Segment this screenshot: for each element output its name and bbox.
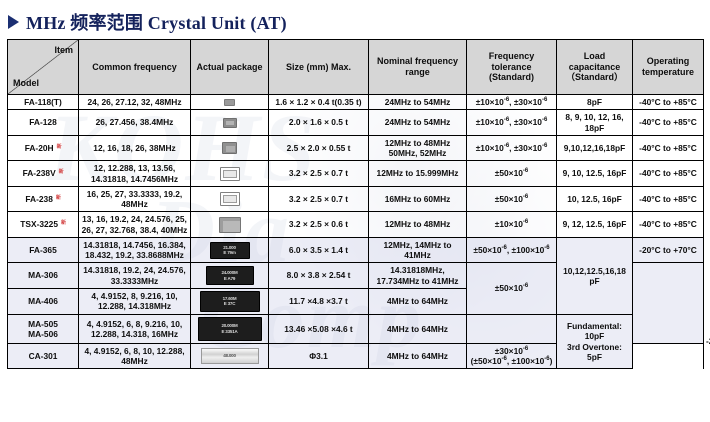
table-header: Item Model Common frequency Actual packa… bbox=[8, 40, 704, 95]
cell-nominal-frequency: 4MHz to 64MHz bbox=[369, 288, 467, 314]
cell-common-frequency: 13, 16, 19.2, 24, 24.576, 25, 26, 27, 32… bbox=[79, 212, 191, 238]
header-load-capacitance: Load capacitance （Standard） bbox=[557, 40, 633, 95]
cell-model: TSX-3225新 bbox=[8, 212, 79, 238]
header-size: Size (mm) Max. bbox=[269, 40, 369, 95]
cell-actual-package: 17.60ME 37C bbox=[191, 288, 269, 314]
cell-frequency-tolerance-merged: ±50×10-6 bbox=[467, 263, 557, 315]
package-thumbnail-icon bbox=[219, 217, 241, 233]
cell-operating-temperature: -40°C to +85°C bbox=[633, 110, 704, 136]
cell-nominal-frequency: 24MHz to 54MHz bbox=[369, 110, 467, 136]
cell-model: MA-505 MA-506 bbox=[8, 314, 79, 343]
model-name: FA-365 bbox=[29, 245, 56, 255]
table-row: FA-118(T) 24, 26, 27.12, 32, 48MHz 1.6 ×… bbox=[8, 95, 704, 110]
cell-model: FA-238新 bbox=[8, 186, 79, 212]
model-name: FA-20H bbox=[25, 143, 54, 153]
model-name: MA-406 bbox=[28, 296, 58, 306]
header-frequency-tolerance: Frequency tolerance (Standard) bbox=[467, 40, 557, 95]
cell-frequency-tolerance: ±10×10-6, ±30×10-6 bbox=[467, 95, 557, 110]
crystal-unit-spec-table: Item Model Common frequency Actual packa… bbox=[7, 39, 704, 369]
cell-model: MA-406 bbox=[8, 288, 79, 314]
cell-actual-package bbox=[191, 95, 269, 110]
cell-operating-temperature: -20°C to +70°C bbox=[633, 237, 704, 263]
cell-size: 3.2 × 2.5 × 0.6 t bbox=[269, 212, 369, 238]
cell-actual-package: 21.000E 79m bbox=[191, 237, 269, 263]
model-name: TSX-3225 bbox=[20, 219, 58, 229]
new-badge-icon: 新 bbox=[57, 144, 62, 150]
model-name: MA-505 MA-506 bbox=[28, 319, 58, 340]
header-model-label: Model bbox=[13, 78, 39, 89]
cell-common-frequency: 4, 4.9152, 8, 9.216, 10, 12.288, 14.318M… bbox=[79, 288, 191, 314]
cell-size: Φ3.1 bbox=[269, 343, 369, 369]
page-title: MHz 频率范围 Crystal Unit (AT) bbox=[26, 9, 287, 35]
cell-actual-package bbox=[191, 110, 269, 136]
cell-frequency-tolerance: ±10×10-6, ±30×10-6 bbox=[467, 135, 557, 161]
model-name: FA-128 bbox=[29, 117, 56, 127]
cell-operating-temperature: -40°C to +85°C bbox=[633, 161, 704, 187]
cell-nominal-frequency: 12MHz, 14MHz to 41MHz bbox=[369, 237, 467, 263]
load-fundamental-label: Fundamental: bbox=[567, 321, 622, 331]
cell-frequency-tolerance bbox=[467, 314, 557, 343]
table-row: TSX-3225新 13, 16, 19.2, 24, 24.576, 25, … bbox=[8, 212, 704, 238]
package-thumbnail-icon bbox=[220, 192, 240, 206]
cell-load-capacitance: 9,10,12,16,18pF bbox=[557, 135, 633, 161]
cell-load-capacitance: 8, 9, 10, 12, 16, 18pF bbox=[557, 110, 633, 136]
cell-size: 2.5 × 2.0 × 0.55 t bbox=[269, 135, 369, 161]
new-badge-icon: 新 bbox=[61, 220, 66, 226]
cell-operating-temperature: -40°C to +85°C bbox=[633, 135, 704, 161]
cell-load-capacitance: 8pF bbox=[557, 95, 633, 110]
header-nominal-frequency-range: Nominal frequency range bbox=[369, 40, 467, 95]
cell-model: MA-306 bbox=[8, 263, 79, 289]
cell-load-capacitance-merged: Fundamental: 10pF 3rd Overtone: 5pF bbox=[557, 314, 633, 369]
cell-operating-temperature: -40°C to +85°C bbox=[633, 95, 704, 110]
spec-table-container: Item Model Common frequency Actual packa… bbox=[7, 39, 703, 369]
model-name: CA-301 bbox=[29, 351, 58, 361]
cell-common-frequency: 4, 4.9152, 6, 8, 9.216, 10, 12.288, 14.3… bbox=[79, 314, 191, 343]
package-thumbnail-icon: 20.000ME 3351A bbox=[198, 317, 262, 341]
cell-nominal-frequency: 24MHz to 54MHz bbox=[369, 95, 467, 110]
cell-nominal-frequency: 12MHz to 15.999MHz bbox=[369, 161, 467, 187]
cell-nominal-frequency: 12MHz to 48MHz 50MHz, 52MHz bbox=[369, 135, 467, 161]
package-thumbnail-icon: 48.000 bbox=[201, 348, 259, 364]
cell-nominal-frequency: 4MHz to 64MHz bbox=[369, 314, 467, 343]
cell-size: 6.0 × 3.5 × 1.4 t bbox=[269, 237, 369, 263]
cell-common-frequency: 26, 27.456, 38.4MHz bbox=[79, 110, 191, 136]
cell-load-capacitance: 9, 12, 12.5, 16pF bbox=[557, 212, 633, 238]
cell-common-frequency: 14.31818, 19.2, 24, 24.576, 33.3333MHz bbox=[79, 263, 191, 289]
cell-model: FA-128 bbox=[8, 110, 79, 136]
cell-load-capacitance: 10, 12.5, 16pF bbox=[557, 186, 633, 212]
model-name: FA-238V bbox=[23, 168, 56, 178]
cell-operating-temperature: -40°C to +85°C bbox=[633, 186, 704, 212]
cell-frequency-tolerance: ±10×10-6 bbox=[467, 212, 557, 238]
cell-frequency-tolerance: ±50×10-6 bbox=[467, 161, 557, 187]
header-item-label: Item bbox=[54, 45, 73, 56]
cell-actual-package bbox=[191, 212, 269, 238]
cell-frequency-tolerance: ±10×10-6, ±30×10-6 bbox=[467, 110, 557, 136]
cell-common-frequency: 14.31818, 14.7456, 16.384, 18.432, 19.2,… bbox=[79, 237, 191, 263]
cell-common-frequency: 12, 16, 18, 26, 38MHz bbox=[79, 135, 191, 161]
cell-frequency-tolerance: ±30×10-6(±50×10-6, ±100×10-6) bbox=[467, 343, 557, 369]
cell-common-frequency: 16, 25, 27, 33.3333, 19.2, 48MHz bbox=[79, 186, 191, 212]
cell-load-capacitance-merged: 10,12,12.5,16,18 pF bbox=[557, 237, 633, 314]
header-operating-temperature: Operating temperature bbox=[633, 40, 704, 95]
package-thumbnail-icon: 21.000E 79m bbox=[210, 242, 250, 259]
cell-size: 8.0 × 3.8 × 2.54 t bbox=[269, 263, 369, 289]
header-row: Item Model Common frequency Actual packa… bbox=[8, 40, 704, 95]
table-row: FA-128 26, 27.456, 38.4MHz 2.0 × 1.6 × 0… bbox=[8, 110, 704, 136]
cell-operating-temperature-merged bbox=[633, 263, 704, 344]
cell-actual-package: 24.000ME A79 bbox=[191, 263, 269, 289]
cell-load-capacitance: 9, 10, 12.5, 16pF bbox=[557, 161, 633, 187]
cell-size: 2.0 × 1.6 × 0.5 t bbox=[269, 110, 369, 136]
cell-actual-package bbox=[191, 186, 269, 212]
cell-actual-package: 48.000 bbox=[191, 343, 269, 369]
page-title-bar: MHz 频率范围 Crystal Unit (AT) bbox=[0, 0, 710, 34]
cell-nominal-frequency: 12MHz to 48MHz bbox=[369, 212, 467, 238]
cell-nominal-frequency: 16MHz to 60MHz bbox=[369, 186, 467, 212]
table-row: FA-365 14.31818, 14.7456, 16.384, 18.432… bbox=[8, 237, 704, 263]
package-thumbnail-icon: 24.000ME A79 bbox=[206, 266, 254, 285]
load-overtone-value: 5pF bbox=[587, 352, 602, 362]
table-row: FA-238V新 12, 12.288, 13, 13.56, 14.31818… bbox=[8, 161, 704, 187]
cell-size: 1.6 × 1.2 × 0.4 t(0.35 t) bbox=[269, 95, 369, 110]
package-thumbnail-icon: 17.60ME 37C bbox=[200, 291, 260, 312]
cell-size: 3.2 × 2.5 × 0.7 t bbox=[269, 186, 369, 212]
cell-model: FA-238V新 bbox=[8, 161, 79, 187]
cell-common-frequency: 4, 4.9152, 6, 8, 10, 12.288, 48MHz bbox=[79, 343, 191, 369]
package-thumbnail-icon bbox=[223, 118, 237, 128]
cell-operating-temperature: -40°C to +85°C bbox=[633, 212, 704, 238]
table-row: MA-505 MA-506 4, 4.9152, 6, 8, 9.216, 10… bbox=[8, 314, 704, 343]
cell-model: CA-301 bbox=[8, 343, 79, 369]
header-common-frequency: Common frequency bbox=[79, 40, 191, 95]
package-thumbnail-icon bbox=[220, 167, 240, 181]
cell-common-frequency: 24, 26, 27.12, 32, 48MHz bbox=[79, 95, 191, 110]
package-thumbnail-icon bbox=[224, 99, 235, 106]
table-body: FA-118(T) 24, 26, 27.12, 32, 48MHz 1.6 ×… bbox=[8, 95, 704, 369]
cell-common-frequency: 12, 12.288, 13, 13.56, 14.31818, 14.7456… bbox=[79, 161, 191, 187]
cell-frequency-tolerance: ±50×10-6 bbox=[467, 186, 557, 212]
cell-model: FA-20H新 bbox=[8, 135, 79, 161]
cell-size: 11.7 ×4.8 ×3.7 t bbox=[269, 288, 369, 314]
cell-frequency-tolerance: ±50×10-6, ±100×10-6 bbox=[467, 237, 557, 263]
cell-actual-package bbox=[191, 135, 269, 161]
cell-nominal-frequency: 4MHz to 64MHz bbox=[369, 343, 467, 369]
cell-nominal-frequency: 14.31818MHz, 17.734MHz to 41MHz bbox=[369, 263, 467, 289]
model-name: FA-118(T) bbox=[24, 97, 62, 107]
cell-model: FA-118(T) bbox=[8, 95, 79, 110]
cell-model: FA-365 bbox=[8, 237, 79, 263]
header-actual-package: Actual package bbox=[191, 40, 269, 95]
triangle-bullet-icon bbox=[8, 15, 19, 29]
cell-size: 3.2 × 2.5 × 0.7 t bbox=[269, 161, 369, 187]
table-row: FA-238新 16, 25, 27, 33.3333, 19.2, 48MHz… bbox=[8, 186, 704, 212]
new-badge-icon: 新 bbox=[59, 169, 64, 175]
load-overtone-label: 3rd Overtone: bbox=[567, 342, 622, 352]
cell-actual-package bbox=[191, 161, 269, 187]
table-row: FA-20H新 12, 16, 18, 26, 38MHz 2.5 × 2.0 … bbox=[8, 135, 704, 161]
header-corner-cell: Item Model bbox=[8, 40, 79, 95]
new-badge-icon: 新 bbox=[56, 195, 61, 201]
package-thumbnail-icon bbox=[222, 142, 237, 154]
cell-actual-package: 20.000ME 3351A bbox=[191, 314, 269, 343]
cell-size: 13.46 ×5.08 ×4.6 t bbox=[269, 314, 369, 343]
load-fundamental-value: 10pF bbox=[585, 331, 605, 341]
model-name: MA-306 bbox=[28, 270, 58, 280]
model-name: FA-238 bbox=[25, 194, 52, 204]
